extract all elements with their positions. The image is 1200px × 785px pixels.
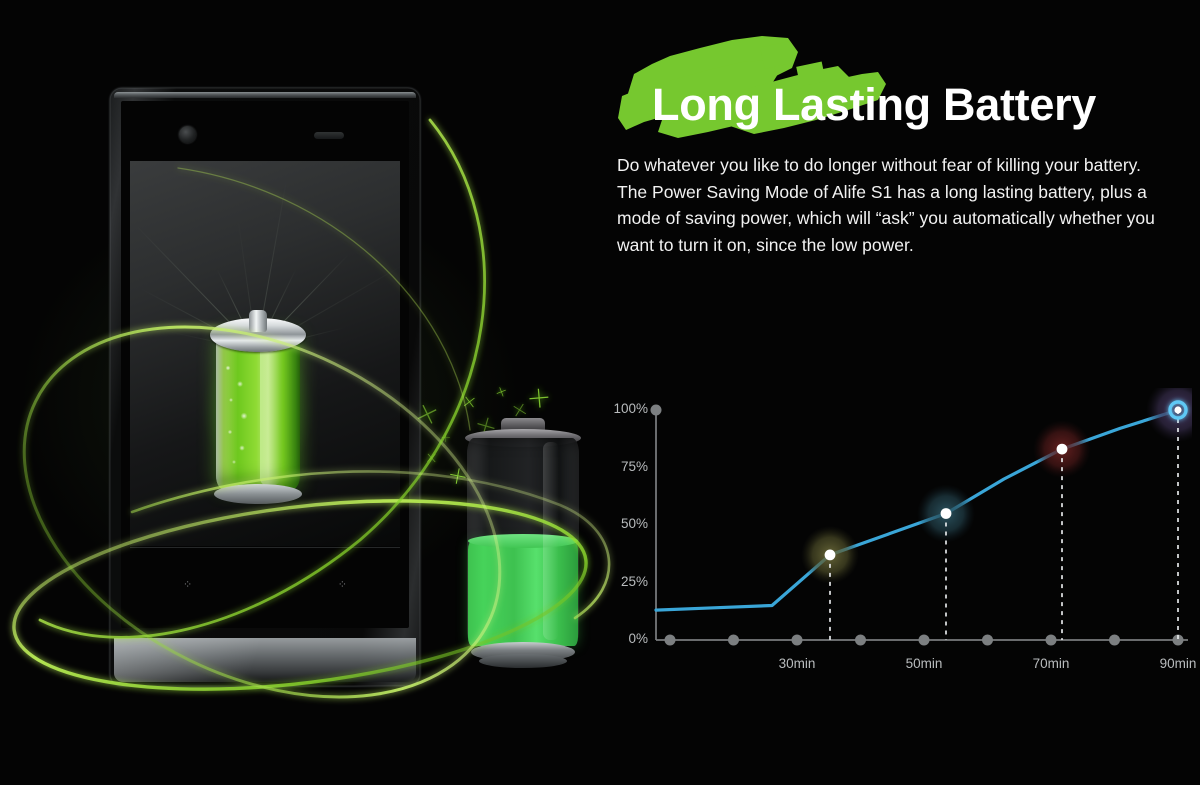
x-axis-tick-label: 90min [1143,656,1200,671]
wallpaper-divider [130,547,400,548]
y-axis-tick-label: 75% [606,459,648,474]
half-filled-glass-battery [455,418,590,668]
sparkle-icon [424,450,439,465]
glass-battery-foot [479,654,567,668]
sparkle-icon [460,392,478,410]
y-axis-tick-label: 100% [606,401,648,416]
x-axis-dot [982,635,993,646]
x-axis-dot [792,635,803,646]
x-axis-dot [855,635,866,646]
page-title: Long Lasting Battery [652,82,1096,127]
y-axis-tick-label: 50% [606,516,648,531]
poster-canvas: ⁘ ⁘ [0,0,1200,785]
camera-icon [179,126,196,143]
x-axis-tick-label: 50min [889,656,959,671]
chart-line [656,410,1178,610]
battery-base [214,484,302,504]
x-axis-dot [1046,635,1057,646]
speaker-grille-icon [314,132,344,139]
chart-marker-dot [825,550,836,561]
glass-battery-gloss [543,442,559,640]
body-paragraph: Do whatever you like to do longer withou… [617,152,1162,258]
x-axis-dot [728,635,739,646]
battery-gloss [260,334,280,486]
y-axis-tick-label: 25% [606,574,648,589]
x-axis-dot [919,635,930,646]
chart-marker-dot [1057,444,1068,455]
chart-marker-dot [941,508,952,519]
x-axis-tick-label: 30min [762,656,832,671]
full-green-battery [208,310,308,500]
sparkle-icon [448,466,466,484]
headline-block: Long Lasting Battery [612,34,1182,144]
sparkle-icon [529,387,549,407]
battery-terminal [249,310,267,332]
chart-marker-dot [1174,406,1181,413]
sparkle-icon [510,400,530,420]
back-key-icon[interactable]: ⁘ [183,580,192,591]
battery-charge-chart: 100%75%50%25%0% 30min50min70min90min [612,388,1192,678]
phone-bezel-highlight [114,638,274,682]
x-axis-dot [665,635,676,646]
chart-svg [612,388,1192,678]
y-axis-cap-dot [651,405,662,416]
phone-softkey-bar: ⁘ ⁘ [121,574,409,600]
menu-key-icon[interactable]: ⁘ [338,580,347,591]
sparkle-icon [441,433,449,441]
y-axis-tick-label: 0% [606,631,648,646]
battery-bubbles [222,360,256,470]
sparkle-icon [495,385,507,397]
phone-top-edge [114,92,416,98]
x-axis-dot [1109,635,1120,646]
x-axis-tick-label: 70min [1016,656,1086,671]
glass-battery-fill [468,541,578,646]
glass-battery-fill-surface [468,534,578,548]
